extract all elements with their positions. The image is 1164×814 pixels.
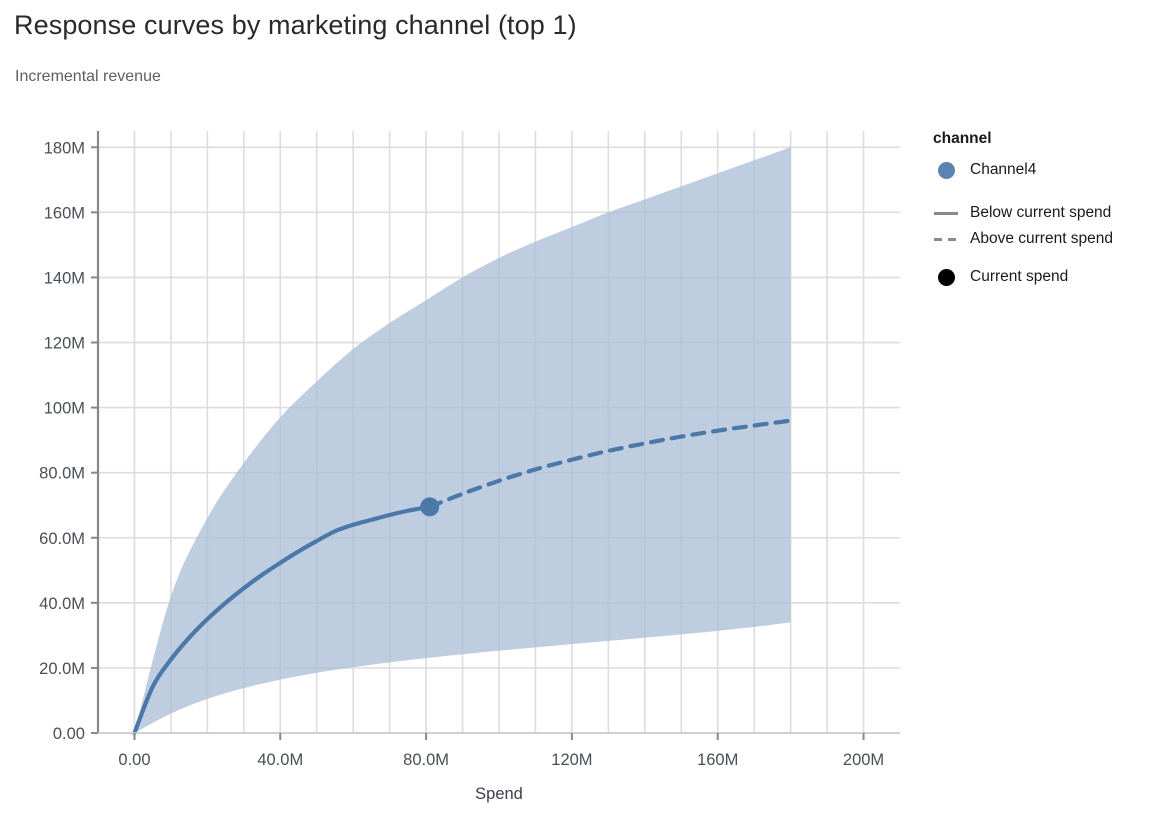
y-axis-tick-label: 140M — [44, 269, 85, 287]
x-axis-tick-label: 40.0M — [257, 751, 303, 769]
legend-item-label: Above current spend — [970, 231, 1113, 247]
current-spend-dot-icon — [933, 269, 959, 286]
solid-line-icon — [933, 212, 959, 215]
current-spend-marker — [420, 497, 439, 516]
legend-title: channel — [933, 130, 1158, 148]
channel-color-swatch-icon — [933, 162, 959, 179]
y-axis-tick-label: 20.0M — [39, 660, 85, 678]
plot-area: 0.0020.0M40.0M60.0M80.0M100M120M140M160M… — [0, 0, 1164, 814]
y-axis-tick-label: 120M — [44, 335, 85, 353]
legend: channel Channel4 Below current spend Abo… — [933, 130, 1158, 290]
legend-spacer — [933, 252, 1158, 264]
y-axis-tick-label: 100M — [44, 400, 85, 418]
x-axis-tick-label: 80.0M — [403, 751, 449, 769]
y-axis-tick-label: 40.0M — [39, 595, 85, 613]
legend-item-above-current-spend[interactable]: Above current spend — [933, 226, 1158, 252]
x-axis-tick-label: 0.00 — [118, 751, 150, 769]
legend-item-label: Channel4 — [970, 162, 1036, 178]
legend-item-channel4[interactable]: Channel4 — [933, 157, 1158, 183]
y-axis-tick-label: 60.0M — [39, 530, 85, 548]
legend-item-label: Current spend — [970, 269, 1068, 285]
y-axis-tick-label: 160M — [44, 204, 85, 222]
x-axis-tick-label: 200M — [843, 751, 884, 769]
legend-spacer — [933, 183, 1158, 200]
x-axis-tick-label: 120M — [551, 751, 592, 769]
x-axis-tick-label: 160M — [697, 751, 738, 769]
x-axis-title: Spend — [475, 785, 523, 803]
response-curve-chart: Response curves by marketing channel (to… — [0, 0, 1164, 814]
y-axis-tick-label: 0.00 — [53, 725, 85, 743]
legend-item-label: Below current spend — [970, 205, 1111, 221]
legend-item-below-current-spend[interactable]: Below current spend — [933, 200, 1158, 226]
y-axis-tick-label: 80.0M — [39, 465, 85, 483]
legend-item-current-spend[interactable]: Current spend — [933, 264, 1158, 290]
y-axis-tick-label: 180M — [44, 139, 85, 157]
dashed-line-icon — [933, 238, 959, 241]
